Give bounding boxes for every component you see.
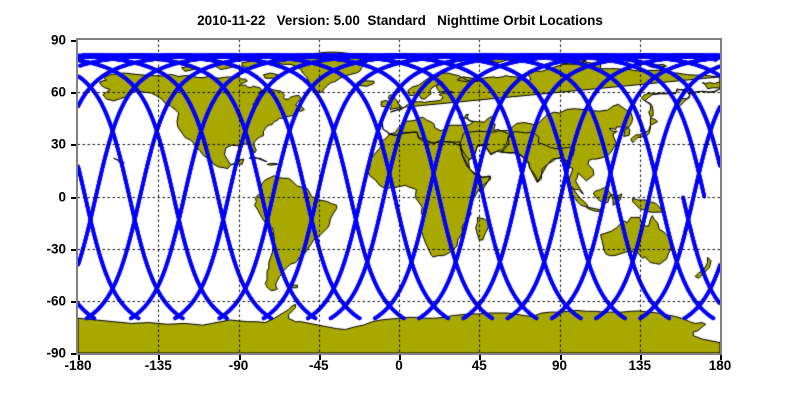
y-tick-label: -60 bbox=[0, 293, 66, 308]
y-tick-mark bbox=[71, 144, 76, 146]
x-tick-mark bbox=[239, 355, 241, 360]
x-tick-mark bbox=[560, 355, 562, 360]
page-title: 2010-11-22 Version: 5.00 Standard Nightt… bbox=[0, 13, 800, 28]
x-tick-label: 180 bbox=[709, 358, 732, 373]
y-tick-mark bbox=[71, 92, 76, 94]
world-map-canvas bbox=[78, 40, 720, 353]
y-tick-label: 60 bbox=[0, 85, 66, 100]
y-tick-mark bbox=[71, 197, 76, 199]
x-tick-mark bbox=[479, 355, 481, 360]
y-tick-mark bbox=[71, 40, 76, 42]
x-tick-mark bbox=[399, 355, 401, 360]
y-tick-label: 0 bbox=[0, 189, 66, 204]
x-tick-mark bbox=[720, 355, 722, 360]
y-tick-mark bbox=[71, 301, 76, 303]
x-tick-label: 45 bbox=[472, 358, 487, 373]
x-tick-label: -135 bbox=[145, 358, 172, 373]
y-tick-label: 30 bbox=[0, 137, 66, 152]
x-tick-mark bbox=[158, 355, 160, 360]
x-tick-mark bbox=[78, 355, 80, 360]
x-tick-mark bbox=[319, 355, 321, 360]
y-tick-label: -90 bbox=[0, 346, 66, 361]
x-tick-mark bbox=[640, 355, 642, 360]
y-tick-label: 90 bbox=[0, 33, 66, 48]
y-tick-mark bbox=[71, 249, 76, 251]
x-tick-label: 135 bbox=[628, 358, 651, 373]
x-tick-label: -180 bbox=[64, 358, 91, 373]
figure-container: 2010-11-22 Version: 5.00 Standard Nightt… bbox=[0, 0, 800, 400]
x-tick-label: -45 bbox=[309, 358, 329, 373]
y-tick-label: -30 bbox=[0, 241, 66, 256]
x-tick-label: 0 bbox=[395, 358, 403, 373]
x-tick-label: -90 bbox=[229, 358, 249, 373]
x-tick-label: 90 bbox=[552, 358, 567, 373]
y-tick-mark bbox=[71, 353, 76, 355]
map-plot-area[interactable] bbox=[76, 38, 722, 355]
